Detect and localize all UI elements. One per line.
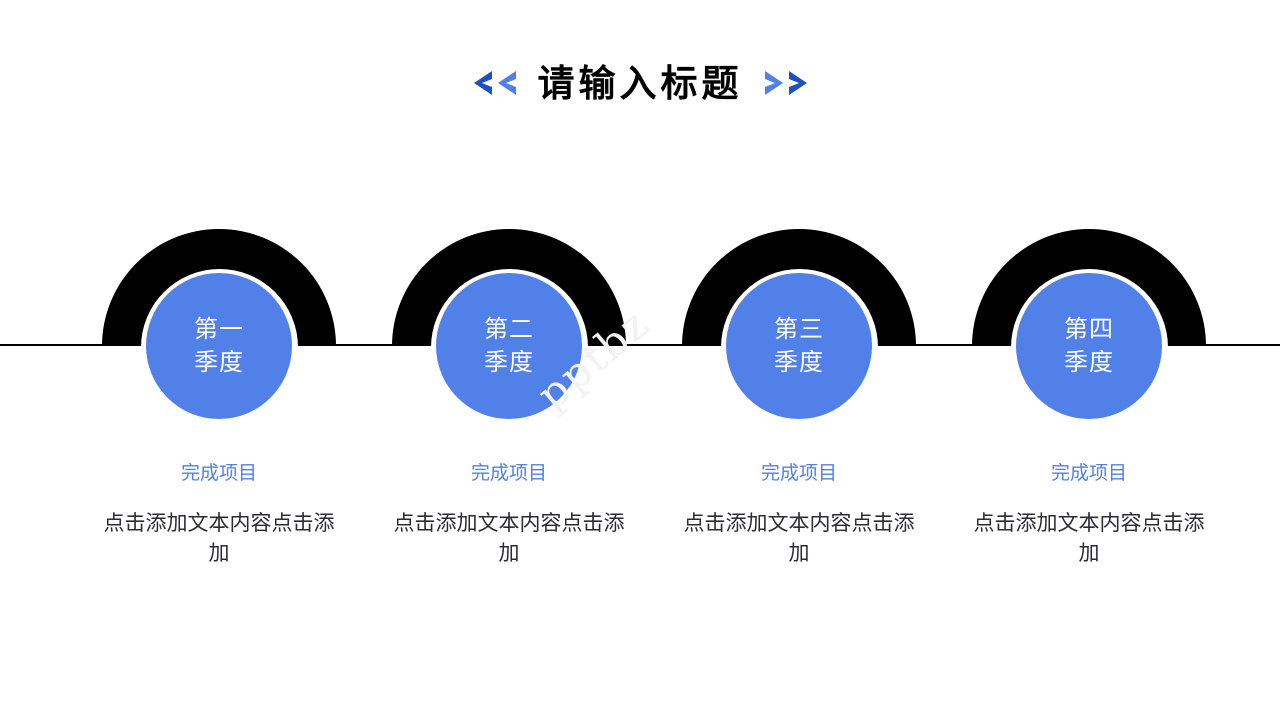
slide-canvas: 请输入标题 pptbz 第一 季度 完成项目 点击添加文本内容点击添加	[0, 0, 1280, 720]
item-caption: 完成项目 点击添加文本内容点击添加	[74, 462, 364, 569]
item-heading: 完成项目	[74, 462, 364, 486]
timeline-item[interactable]: 第三 季度 完成项目 点击添加文本内容点击添加	[654, 0, 944, 720]
timeline-item[interactable]: 第二 季度 完成项目 点击添加文本内容点击添加	[364, 0, 654, 720]
item-body: 点击添加文本内容点击添加	[654, 508, 944, 569]
quarter-badge-line2: 季度	[774, 346, 824, 379]
item-body: 点击添加文本内容点击添加	[944, 508, 1234, 569]
item-body: 点击添加文本内容点击添加	[74, 508, 364, 569]
item-caption: 完成项目 点击添加文本内容点击添加	[654, 462, 944, 569]
quarter-badge[interactable]: 第四 季度	[1016, 273, 1162, 419]
quarter-badge-line2: 季度	[484, 346, 534, 379]
item-body: 点击添加文本内容点击添加	[364, 508, 654, 569]
quarter-badge-line2: 季度	[194, 346, 244, 379]
item-heading: 完成项目	[944, 462, 1234, 486]
quarter-badge[interactable]: 第一 季度	[146, 273, 292, 419]
item-heading: 完成项目	[364, 462, 654, 486]
item-caption: 完成项目 点击添加文本内容点击添加	[944, 462, 1234, 569]
quarter-badge[interactable]: 第二 季度	[436, 273, 582, 419]
timeline-item[interactable]: 第一 季度 完成项目 点击添加文本内容点击添加	[74, 0, 364, 720]
quarter-badge-line1: 第二	[484, 313, 534, 346]
item-heading: 完成项目	[654, 462, 944, 486]
quarter-badge-line1: 第三	[774, 313, 824, 346]
quarter-badge-line1: 第一	[194, 313, 244, 346]
quarter-badge-line1: 第四	[1064, 313, 1114, 346]
item-caption: 完成项目 点击添加文本内容点击添加	[364, 462, 654, 569]
quarter-badge[interactable]: 第三 季度	[726, 273, 872, 419]
quarter-badge-line2: 季度	[1064, 346, 1114, 379]
timeline-item[interactable]: 第四 季度 完成项目 点击添加文本内容点击添加	[944, 0, 1234, 720]
